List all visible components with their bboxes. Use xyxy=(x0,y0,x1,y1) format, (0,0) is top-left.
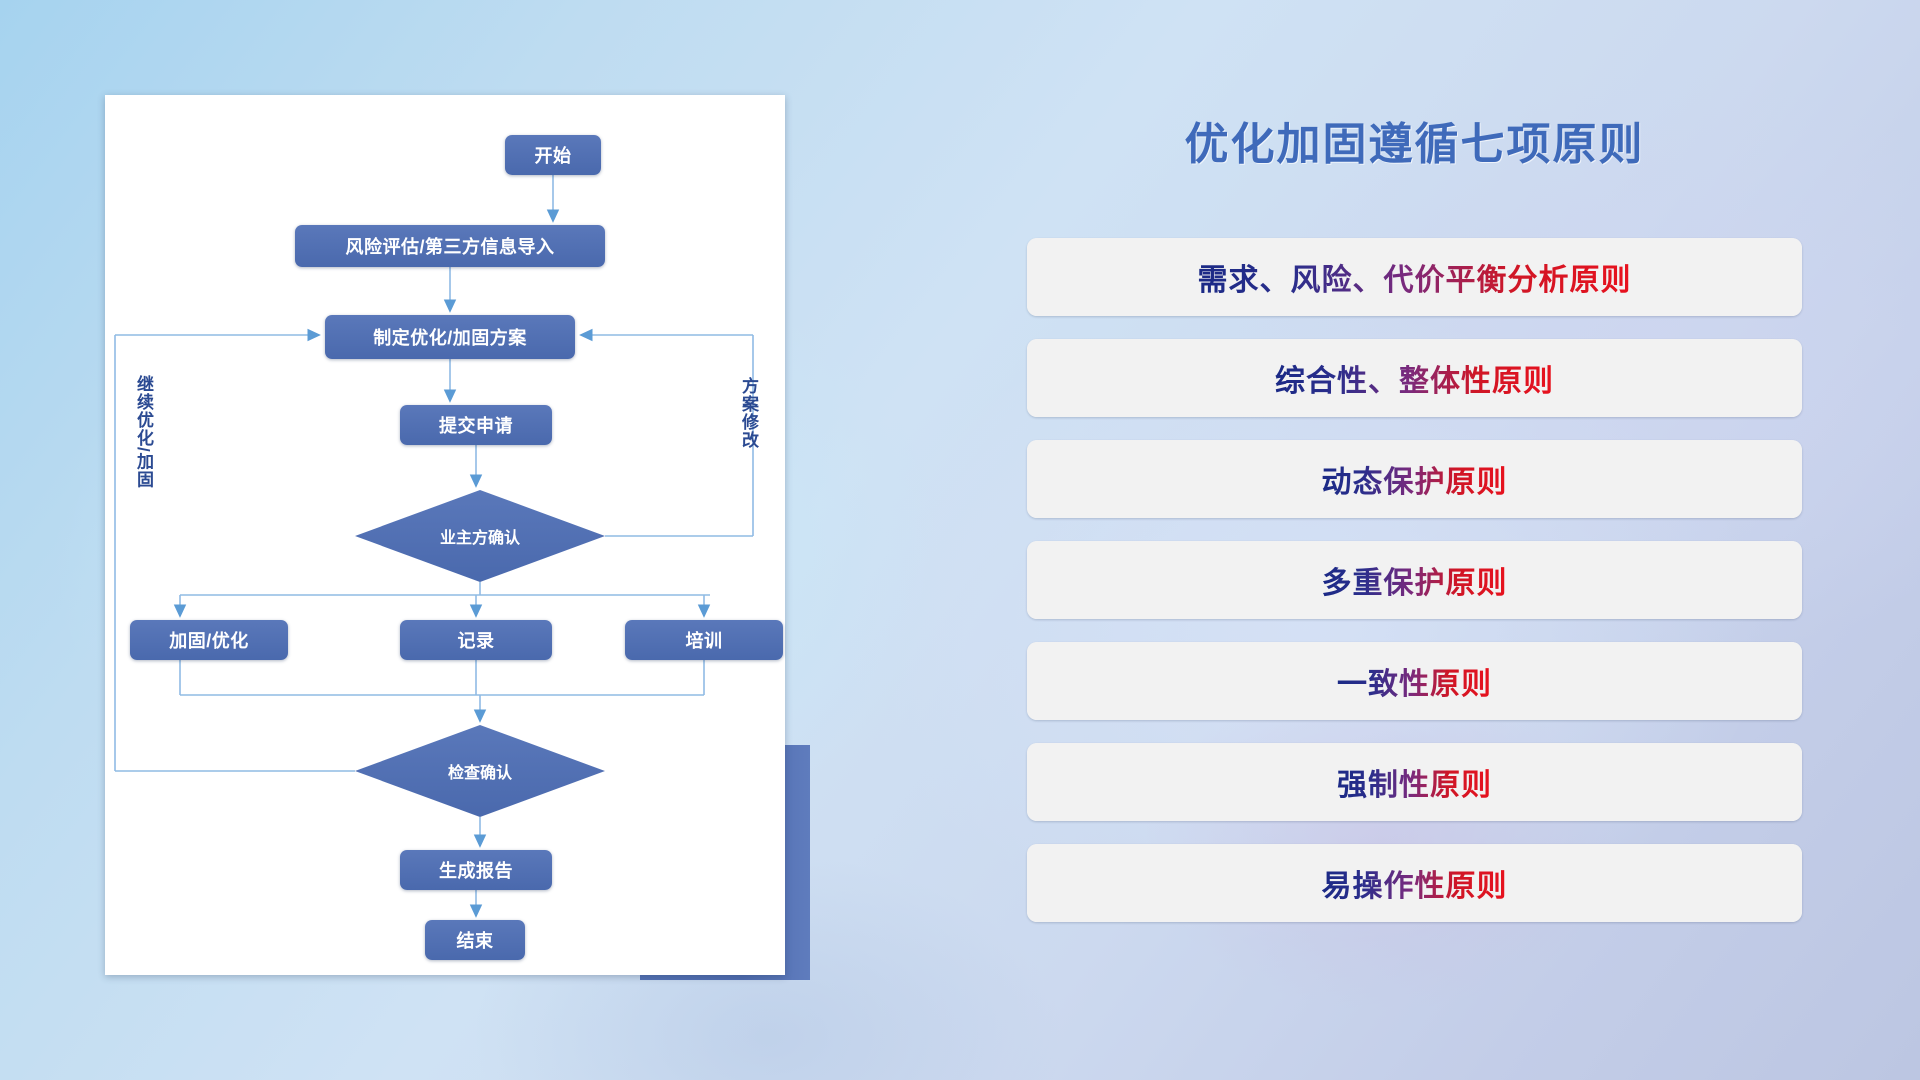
principle-card[interactable]: 需求、风险、代价平衡分析原则 xyxy=(1027,238,1802,316)
principle-label: 易操作性原则 xyxy=(1322,861,1508,905)
principle-card[interactable]: 强制性原则 xyxy=(1027,743,1802,821)
principle-card[interactable]: 易操作性原则 xyxy=(1027,844,1802,922)
principle-label: 强制性原则 xyxy=(1337,760,1492,804)
flow-node-reinforce[interactable]: 加固/优化 xyxy=(130,620,288,660)
principle-label: 多重保护原则 xyxy=(1322,558,1508,602)
flow-node-plan[interactable]: 制定优化/加固方案 xyxy=(325,315,575,359)
principle-label: 综合性、整体性原则 xyxy=(1275,356,1554,400)
principle-card[interactable]: 多重保护原则 xyxy=(1027,541,1802,619)
flow-node-training[interactable]: 培训 xyxy=(625,620,783,660)
edge-label-plan-revision: 方案修改 xyxy=(740,377,757,449)
flow-node-record[interactable]: 记录 xyxy=(400,620,552,660)
flow-node-submit[interactable]: 提交申请 xyxy=(400,405,552,445)
flow-node-report[interactable]: 生成报告 xyxy=(400,850,552,890)
flow-node-start[interactable]: 开始 xyxy=(505,135,601,175)
principle-card[interactable]: 动态保护原则 xyxy=(1027,440,1802,518)
flow-node-risk[interactable]: 风险评估/第三方信息导入 xyxy=(295,225,605,267)
principle-label: 动态保护原则 xyxy=(1322,457,1508,501)
principle-label: 一致性原则 xyxy=(1337,659,1492,703)
principle-label: 需求、风险、代价平衡分析原则 xyxy=(1198,255,1632,299)
principle-card[interactable]: 一致性原则 xyxy=(1027,642,1802,720)
right-panel-title: 优化加固遵循七项原则 xyxy=(1027,108,1802,172)
flowchart-panel: 开始 风险评估/第三方信息导入 制定优化/加固方案 提交申请 业主方确认 加固/… xyxy=(105,95,785,975)
edge-label-continue-optimize: 继续优化/加固 xyxy=(135,375,152,489)
principles-list: 需求、风险、代价平衡分析原则 综合性、整体性原则 动态保护原则 多重保护原则 一… xyxy=(1027,238,1802,945)
flow-node-end[interactable]: 结束 xyxy=(425,920,525,960)
principle-card[interactable]: 综合性、整体性原则 xyxy=(1027,339,1802,417)
